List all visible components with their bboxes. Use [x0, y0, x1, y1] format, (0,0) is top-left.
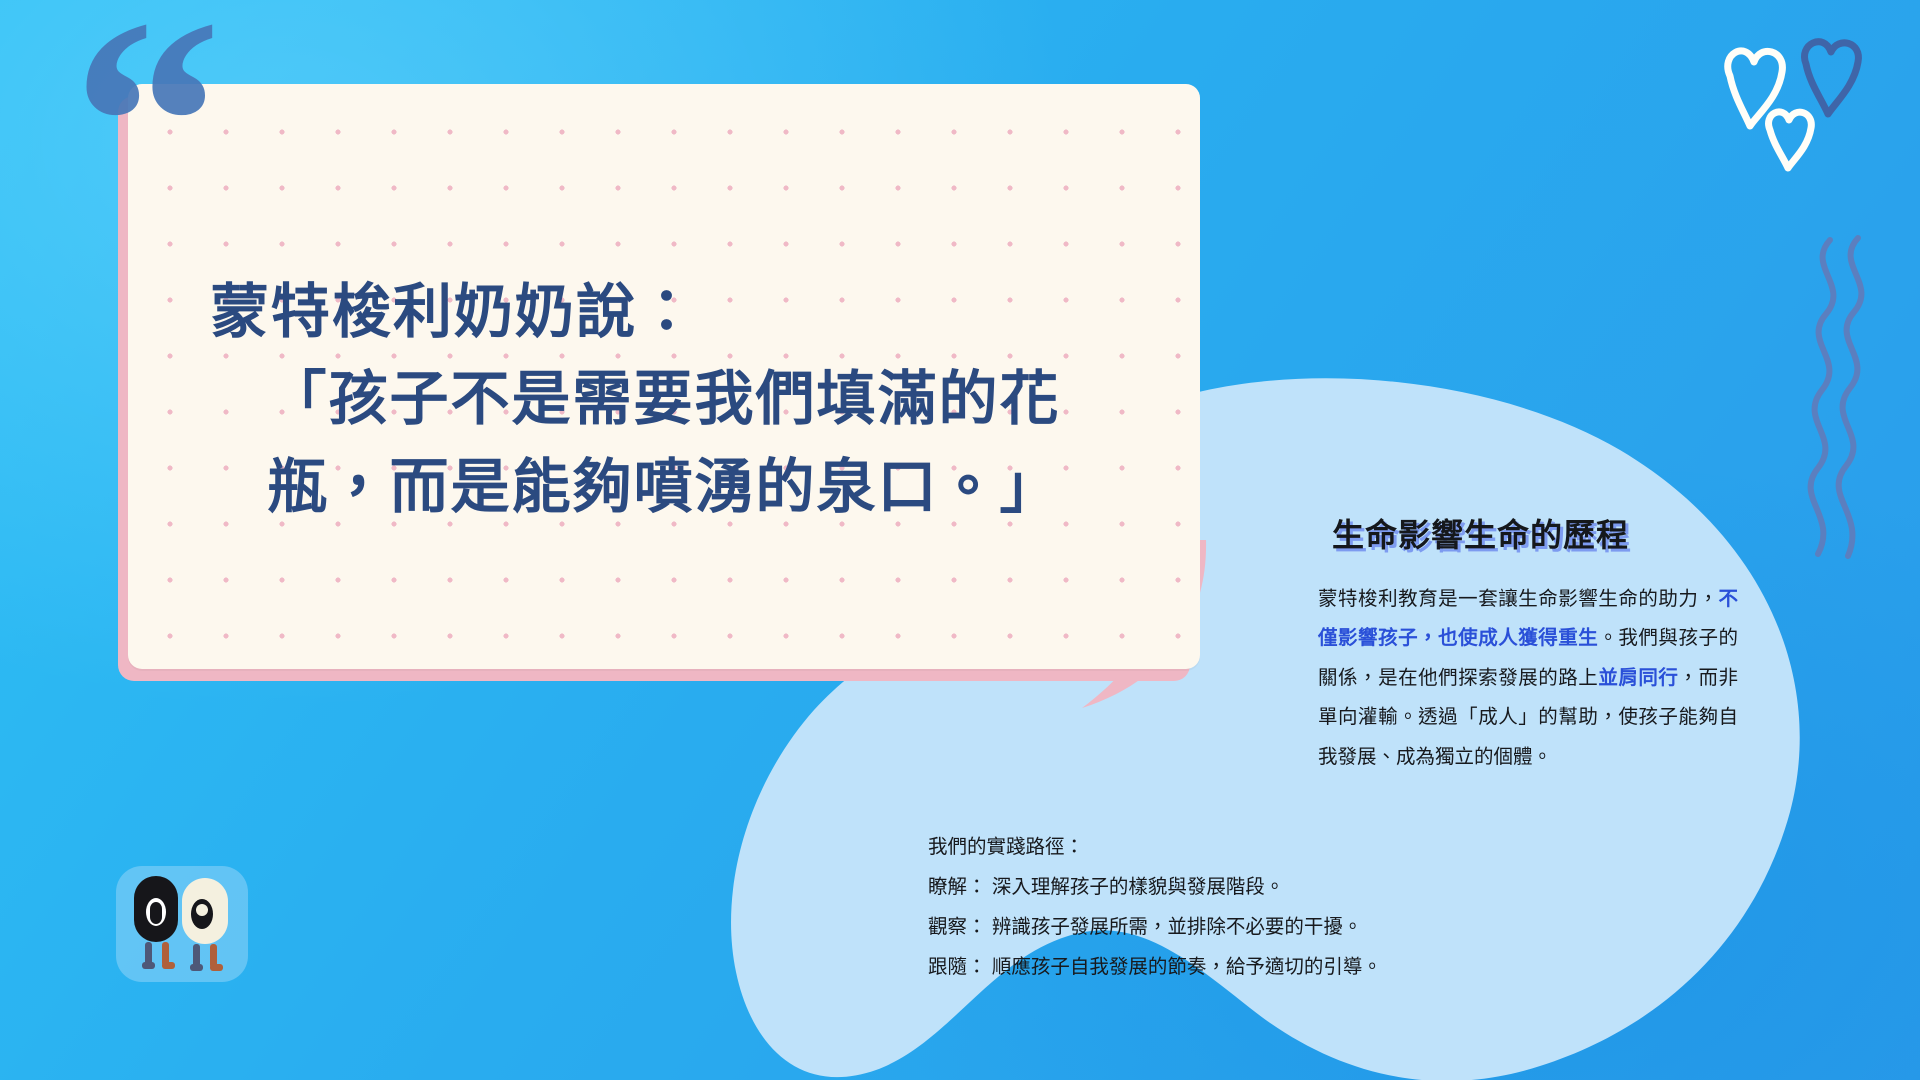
heart-white-large-icon: [1728, 51, 1783, 126]
practice-list: 我們的實踐路徑： 瞭解： 深入理解孩子的樣貌與發展階段。 觀察： 辨識孩子發展所…: [928, 828, 1488, 988]
panel-paragraph-run-0: 蒙特梭利教育是一套讓生命影響生命的助力，: [1318, 588, 1718, 610]
mascot-cream: [182, 878, 228, 971]
hearts-decoration: [1690, 28, 1890, 178]
practice-heading: 我們的實踐路徑：: [928, 828, 1488, 868]
quote-line-2: 「孩子不是需要我們填滿的花: [174, 356, 1154, 443]
quotation-mark-icon: “: [72, 30, 218, 216]
quote-line-1: 蒙特梭利奶奶說：: [174, 269, 1154, 356]
quote-card: 蒙特梭利奶奶說： 「孩子不是需要我們填滿的花 瓶，而是能夠噴湧的泉口。」: [128, 84, 1200, 669]
panel-paragraph: 蒙特梭利教育是一套讓生命影響生命的助力，不僅影響孩子，也使成人獲得重生。我們與孩…: [1318, 580, 1738, 777]
info-panel: 生命影響生命的歷程 蒙特梭利教育是一套讓生命影響生命的助力，不僅影響孩子，也使成…: [1318, 510, 1738, 777]
heart-white-small-icon: [1769, 112, 1812, 168]
quote-line-3: 瓶，而是能夠噴湧的泉口。」: [174, 444, 1154, 531]
panel-paragraph-highlight-3: 並肩同行: [1598, 667, 1678, 689]
panel-title: 生命影響生命的歷程: [1332, 510, 1738, 556]
slide-canvas: 蒙特梭利奶奶說： 「孩子不是需要我們填滿的花 瓶，而是能夠噴湧的泉口。」 “ 生…: [0, 0, 1920, 1080]
heart-blue-outline-icon: [1804, 42, 1858, 114]
practice-item: 跟隨： 順應孩子自我發展的節奏，給予適切的引導。: [928, 948, 1488, 988]
mascot-pair: [112, 862, 252, 990]
mascot-black: [134, 876, 178, 969]
quote-text-block: 蒙特梭利奶奶說： 「孩子不是需要我們填滿的花 瓶，而是能夠噴湧的泉口。」: [128, 269, 1200, 531]
practice-item: 觀察： 辨識孩子發展所需，並排除不必要的干擾。: [928, 908, 1488, 948]
practice-item: 瞭解： 深入理解孩子的樣貌與發展階段。: [928, 868, 1488, 908]
